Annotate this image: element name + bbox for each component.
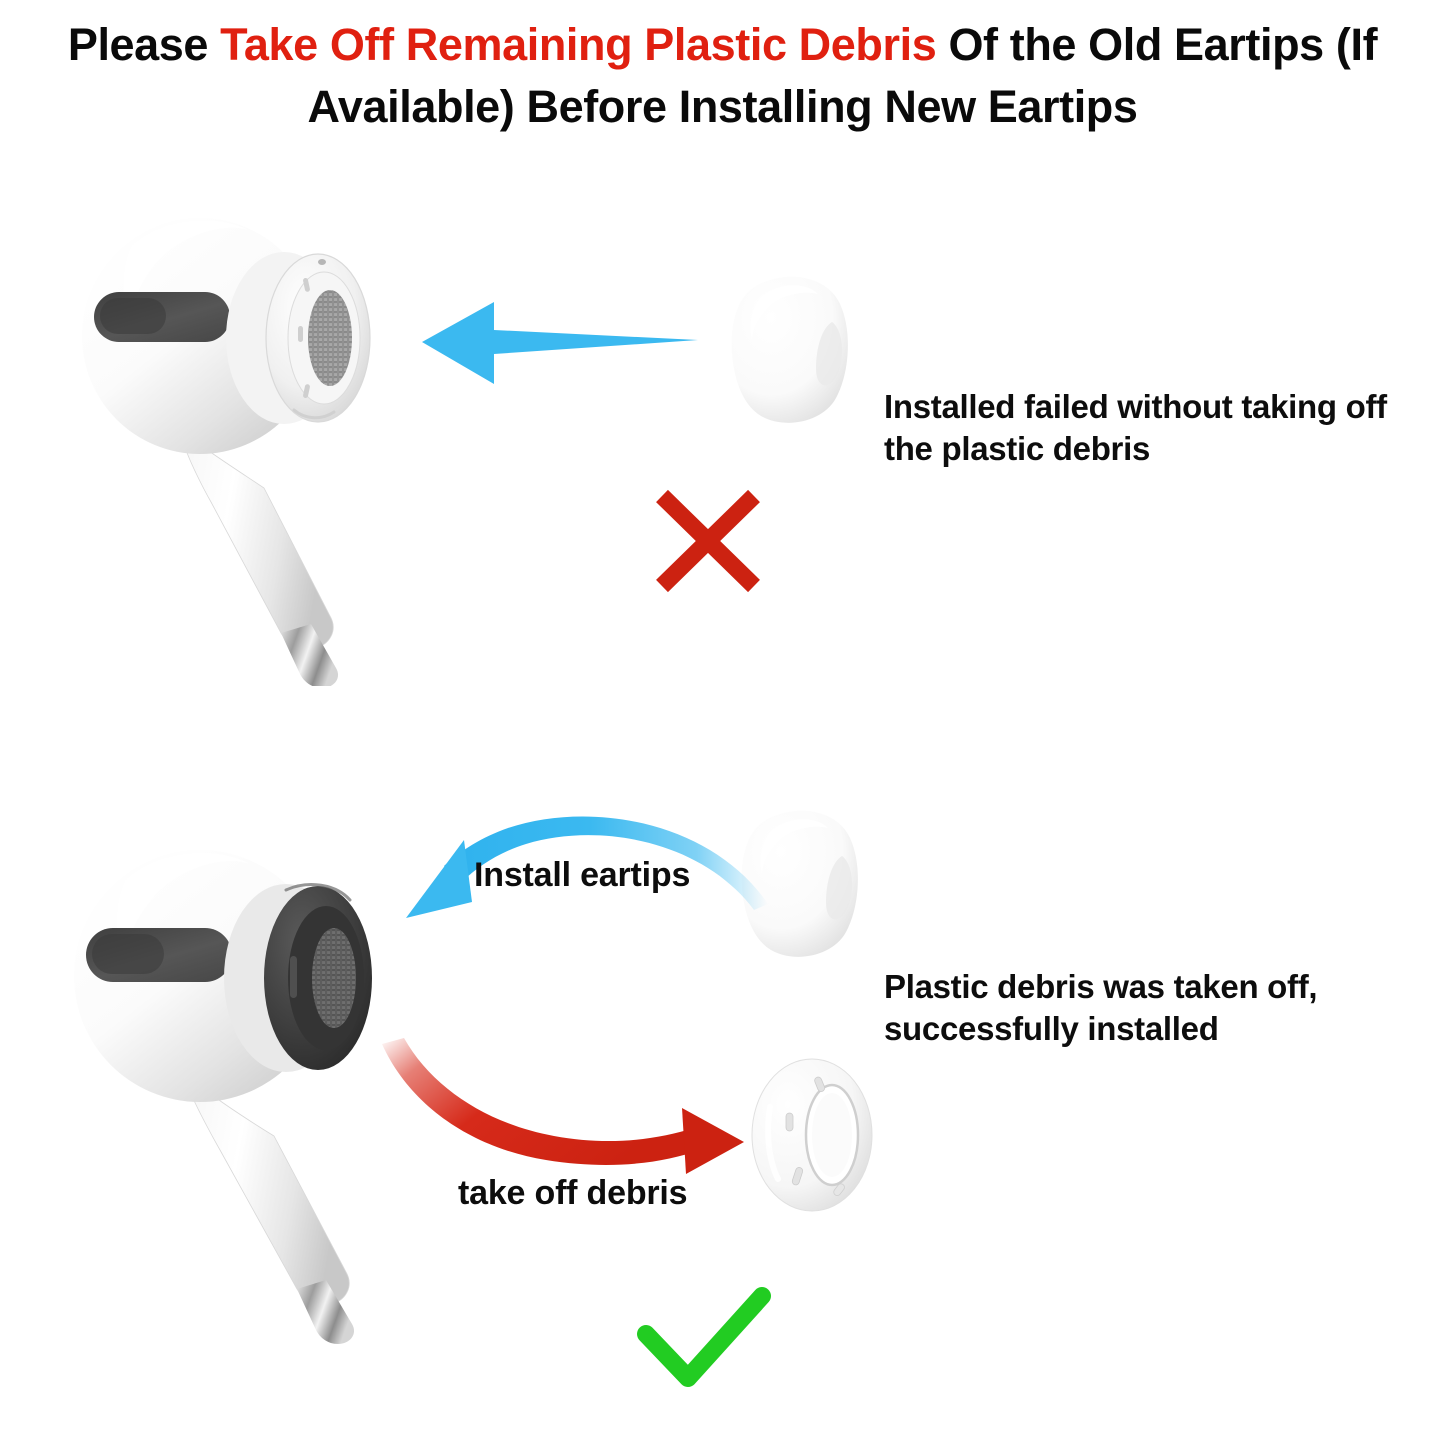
- title-highlight: Take Off Remaining Plastic Debris: [220, 19, 936, 70]
- caption-install-success: Plastic debris was taken off, successful…: [884, 966, 1404, 1050]
- label-take-off-debris: take off debris: [458, 1174, 687, 1213]
- earbud-stem: [186, 441, 333, 649]
- label-install-eartips: Install eartips: [474, 856, 690, 895]
- page-title: Please Take Off Remaining Plastic Debris…: [50, 14, 1395, 138]
- vent-slot-inner: [92, 934, 164, 974]
- arrow-head: [406, 840, 472, 918]
- instruction-diagram: Please Take Off Remaining Plastic Debris…: [0, 0, 1445, 1445]
- ring-slot: [786, 1113, 793, 1131]
- vent-slot-inner: [100, 298, 166, 334]
- caption-install-failed: Installed failed without taking off the …: [884, 386, 1429, 470]
- check-stroke: [646, 1296, 762, 1378]
- check-mark-icon: [634, 1286, 774, 1392]
- ring-dot: [318, 259, 326, 265]
- arrow-head: [682, 1108, 744, 1174]
- ring-bore-inner: [812, 1093, 852, 1177]
- speaker-mesh: [312, 928, 356, 1028]
- airpod-with-debris-ring: [72, 196, 452, 686]
- blue-straight-arrow-left: [418, 294, 698, 390]
- arrow-shape: [422, 302, 698, 384]
- nozzle-side-slot: [290, 956, 297, 998]
- silicone-eartip-top: [722, 268, 872, 433]
- title-part-before: Please: [68, 19, 220, 70]
- arrow-curve-body: [382, 1038, 700, 1165]
- earbud-stem: [192, 1086, 349, 1305]
- cross-mark-icon: [648, 486, 768, 596]
- speaker-mesh: [308, 290, 352, 386]
- ring-notch: [298, 326, 303, 342]
